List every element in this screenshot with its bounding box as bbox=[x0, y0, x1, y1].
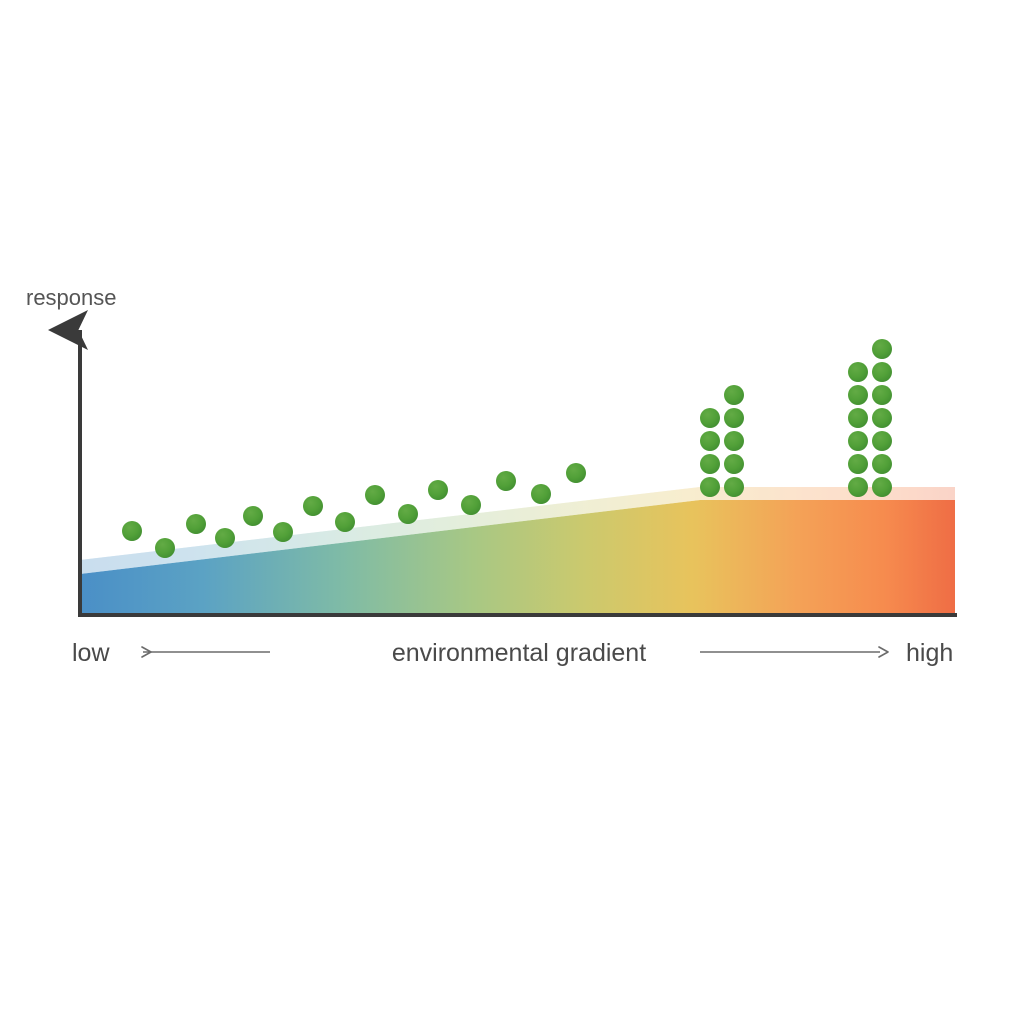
scatter-point-14 bbox=[566, 463, 586, 483]
x-axis-center-label: environmental gradient bbox=[392, 639, 646, 667]
stacked-clusters-layer bbox=[700, 339, 892, 497]
scatter-point-5 bbox=[273, 522, 293, 542]
cluster-point-0-0 bbox=[848, 477, 868, 497]
cluster-point-1-2 bbox=[872, 431, 892, 451]
cluster-point-1-0 bbox=[724, 477, 744, 497]
gradient-response-diagram: response low environmental gradient high bbox=[0, 0, 1024, 1024]
cluster-point-0-1 bbox=[848, 454, 868, 474]
scatter-point-6 bbox=[303, 496, 323, 516]
scatter-point-13 bbox=[531, 484, 551, 504]
x-axis-high-label: high bbox=[906, 639, 953, 667]
scatter-point-0 bbox=[122, 521, 142, 541]
cluster-point-1-4 bbox=[724, 385, 744, 405]
cluster-point-0-3 bbox=[848, 408, 868, 428]
scatter-point-9 bbox=[398, 504, 418, 524]
cluster-point-0-0 bbox=[700, 477, 720, 497]
y-axis-title: response bbox=[26, 285, 117, 310]
x-axis-low-label: low bbox=[72, 639, 110, 667]
cluster-point-1-5 bbox=[872, 362, 892, 382]
scatter-point-12 bbox=[496, 471, 516, 491]
cluster-point-0-5 bbox=[848, 362, 868, 382]
scatter-point-3 bbox=[215, 528, 235, 548]
cluster-point-1-1 bbox=[724, 454, 744, 474]
cluster-2 bbox=[848, 339, 892, 497]
cluster-point-0-1 bbox=[700, 454, 720, 474]
cluster-point-1-4 bbox=[872, 385, 892, 405]
scatter-point-11 bbox=[461, 495, 481, 515]
scatter-point-1 bbox=[155, 538, 175, 558]
scatter-point-2 bbox=[186, 514, 206, 534]
cluster-point-1-6 bbox=[872, 339, 892, 359]
cluster-point-0-2 bbox=[700, 431, 720, 451]
scatter-point-4 bbox=[243, 506, 263, 526]
gradient-wedge bbox=[80, 487, 955, 613]
cluster-point-1-3 bbox=[872, 408, 892, 428]
scatter-point-8 bbox=[365, 485, 385, 505]
cluster-point-1-0 bbox=[872, 477, 892, 497]
x-axis-annotation-row: low environmental gradient high bbox=[72, 639, 953, 667]
cluster-point-0-2 bbox=[848, 431, 868, 451]
scatter-point-7 bbox=[335, 512, 355, 532]
cluster-1 bbox=[700, 385, 744, 497]
cluster-point-0-4 bbox=[848, 385, 868, 405]
figure-root: response low environmental gradient high bbox=[0, 0, 1024, 1024]
cluster-point-1-3 bbox=[724, 408, 744, 428]
scatter-point-10 bbox=[428, 480, 448, 500]
cluster-point-1-2 bbox=[724, 431, 744, 451]
cluster-point-1-1 bbox=[872, 454, 892, 474]
cluster-point-0-3 bbox=[700, 408, 720, 428]
